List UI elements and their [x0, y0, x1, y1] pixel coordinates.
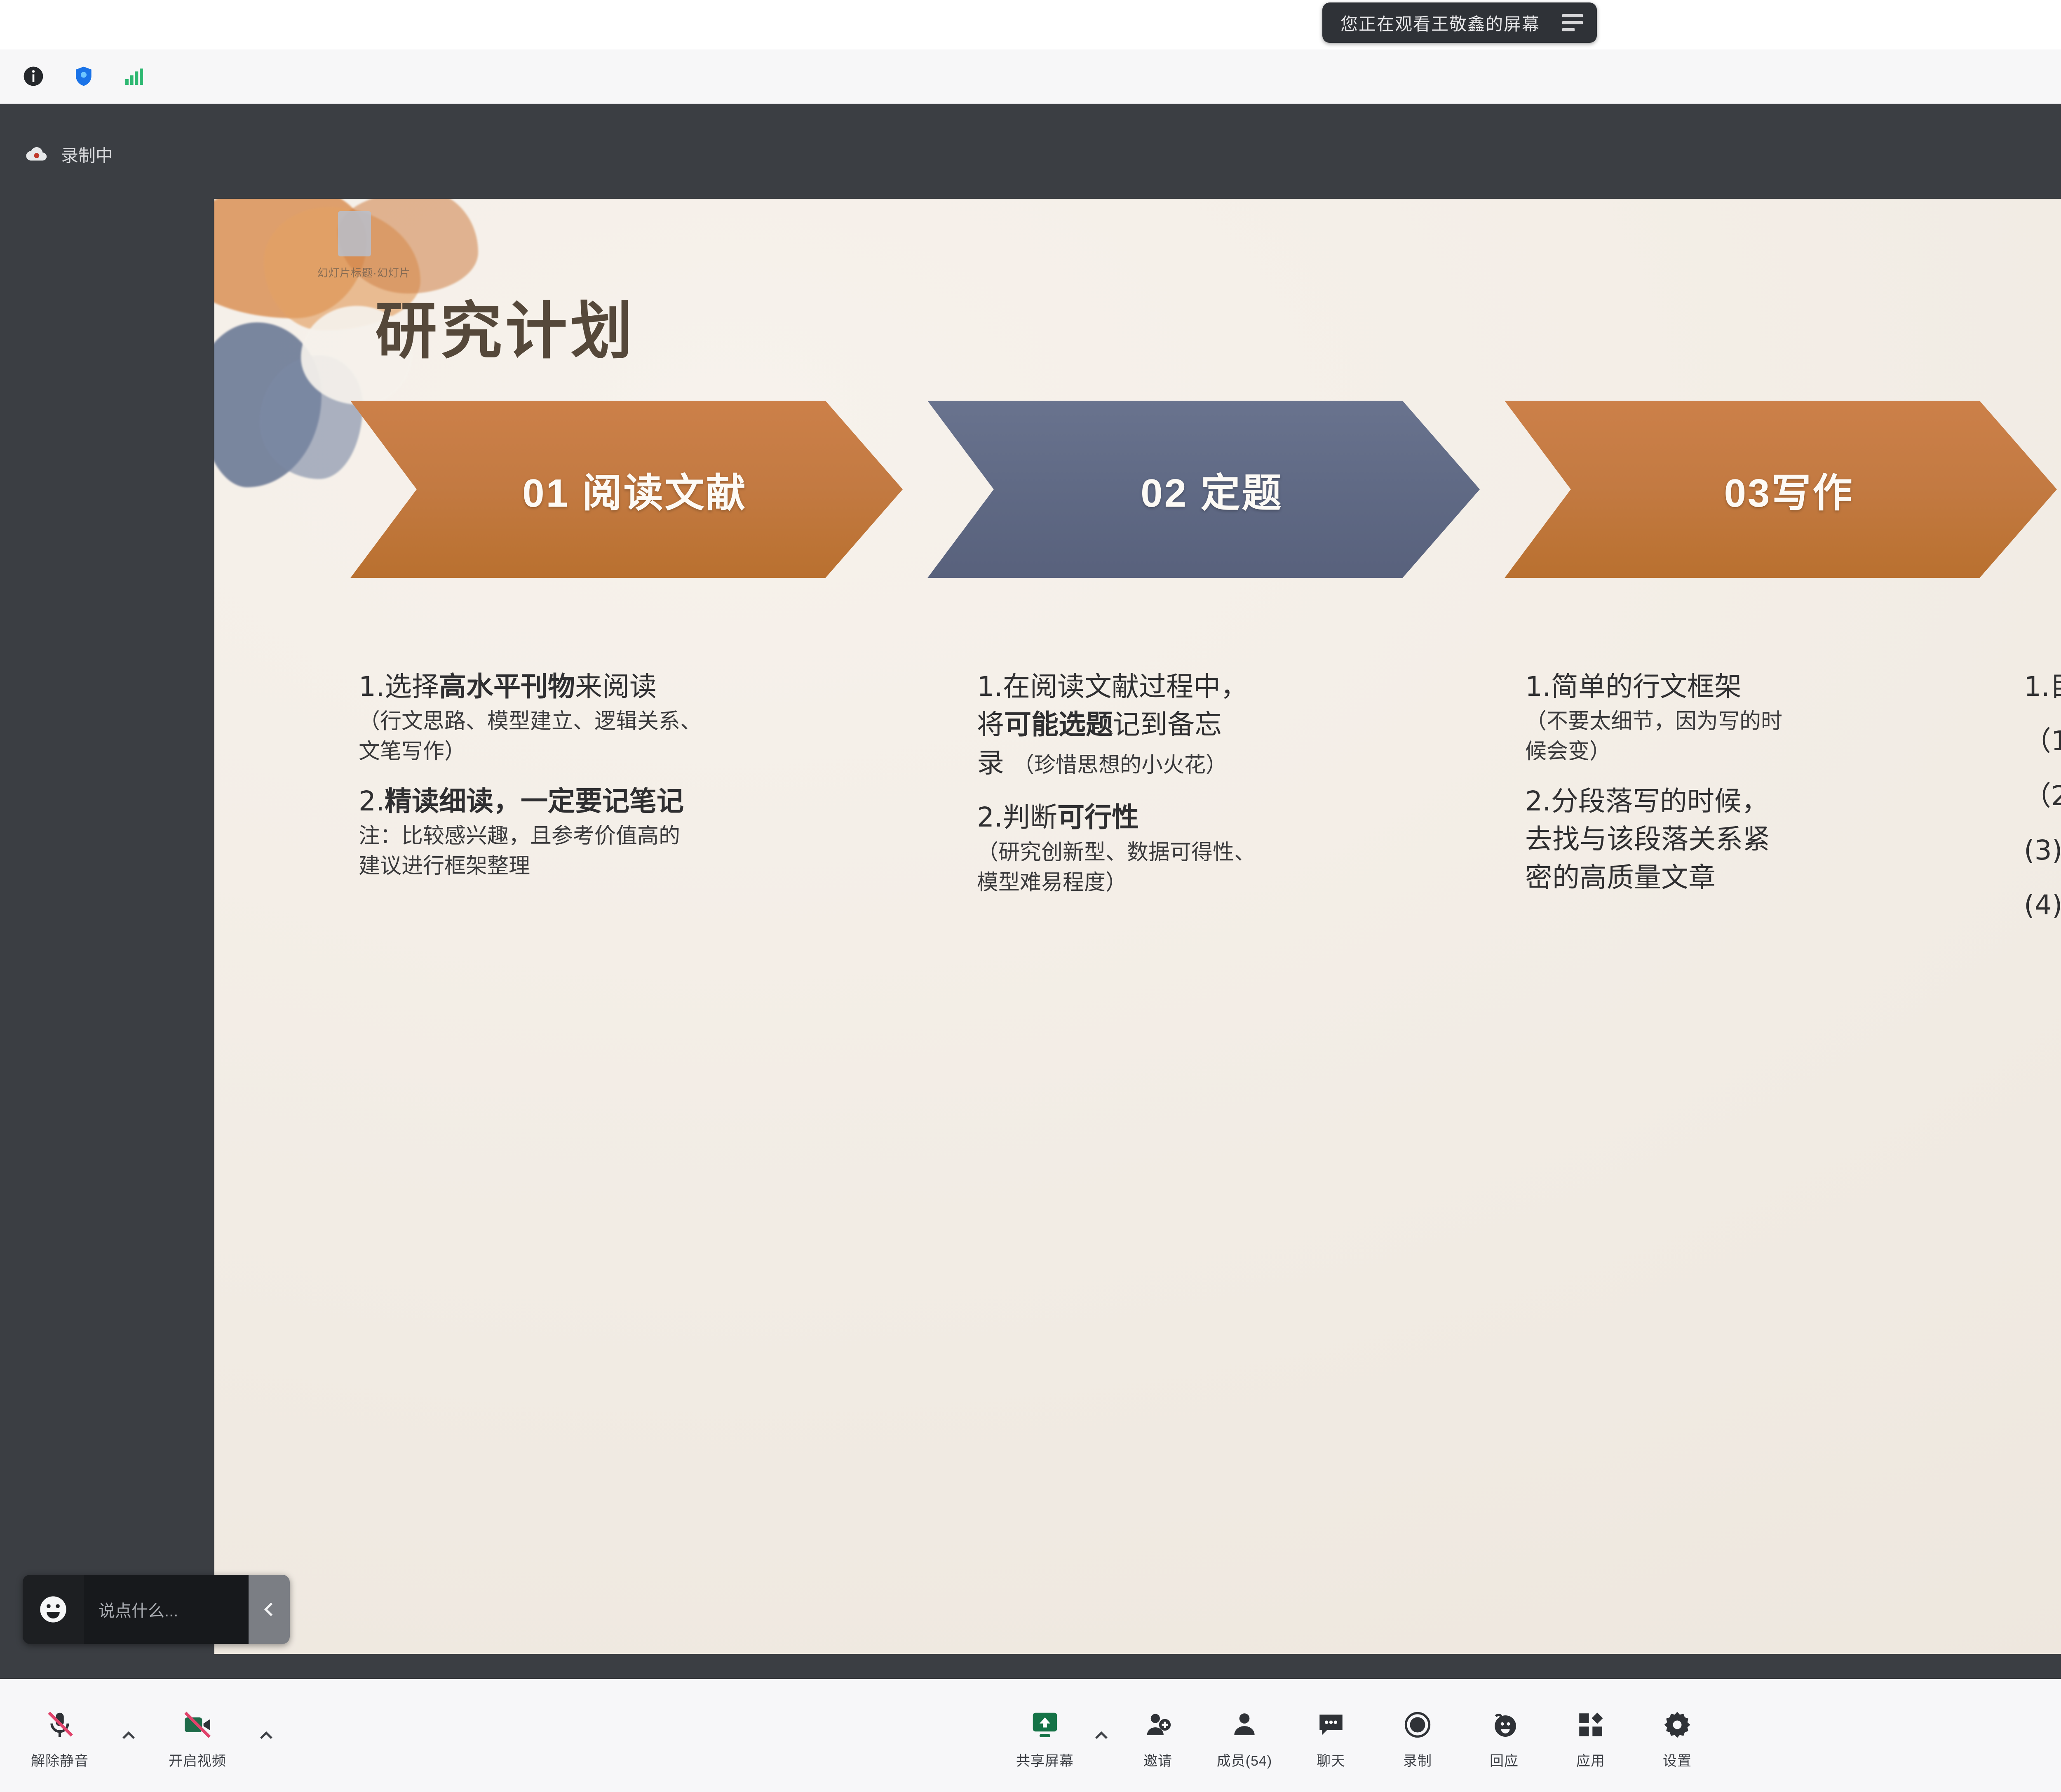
reactions-icon	[1489, 1706, 1519, 1744]
share-screen-button[interactable]: 共享屏幕	[1002, 1698, 1088, 1770]
record-label: 录制	[1403, 1750, 1432, 1770]
line-emphasis: 精读细读，一定要记笔记	[385, 785, 684, 817]
slide-column-reading: 1.选择高水平刊物来阅读 （行文思路、模型建立、逻辑关系、 文笔写作） 2.精读…	[359, 669, 989, 881]
slide-line: （行文思路、模型建立、逻辑关系、	[359, 707, 989, 737]
slide-column-submit: 1.目前常用的投稿渠道（4类） （1）知网（财经科学、财贸经济 （2）学报 (3…	[2024, 669, 2061, 925]
line-text: 录	[977, 747, 1004, 779]
process-step-2-label: 02 定题	[1124, 461, 1283, 518]
app-toolbar: 30:30 演讲者视图	[0, 49, 2061, 104]
process-step-2: 02 定题	[927, 401, 1480, 578]
slide-line: 1.简单的行文框架	[1525, 669, 2012, 705]
process-step-1: 01 阅读文献	[350, 401, 903, 578]
slide-line: （不要太细节，因为写的时	[1525, 707, 2012, 737]
line-text: 记到备忘	[1113, 709, 1222, 740]
invite-button[interactable]: 邀请	[1115, 1698, 1201, 1770]
participants-button[interactable]: 成员(54)	[1201, 1698, 1288, 1770]
slide-line: 模型难易程度）	[977, 868, 1517, 898]
slide-line: 注：比较感兴趣，且参考价值高的	[359, 821, 989, 851]
slide-column-writing: 1.简单的行文框架 （不要太细节，因为写的时 候会变） 2.分段落写的时候， 去…	[1525, 669, 2012, 897]
chat-button[interactable]: 聊天	[1288, 1698, 1374, 1770]
line-text: （珍惜思想的小火花）	[1013, 753, 1227, 777]
slide-line: 建议进行框架整理	[359, 851, 989, 881]
recording-label: 录制中	[61, 142, 113, 167]
video-options-caret[interactable]	[253, 1698, 279, 1773]
window-titlebar: 您正在观看王敬鑫的屏幕	[0, 0, 2061, 49]
cloud-recording-icon	[25, 143, 49, 167]
line-text: 来阅读	[575, 671, 657, 702]
controls-center-group: 共享屏幕 邀请 成员(54)	[1002, 1698, 1721, 1773]
unmute-button[interactable]: 解除静音	[16, 1698, 103, 1770]
controls-left-group: 解除静音 开启视频	[16, 1698, 279, 1773]
slide-line: 2.精读细读，一定要记笔记	[359, 783, 989, 820]
invite-label: 邀请	[1143, 1750, 1172, 1770]
toolbar-left-icons	[0, 62, 148, 91]
sharing-menu-icon[interactable]	[1562, 14, 1583, 31]
slide-line: (3)Journal X (南方经济、经济地理)	[2024, 832, 2061, 869]
mic-muted-icon	[44, 1706, 76, 1744]
process-step-1-label: 01 阅读文献	[506, 461, 747, 518]
slide-line: 密的高质量文章	[1525, 860, 2012, 896]
chat-input[interactable]: 说点什么...	[84, 1575, 249, 1644]
slide-line: 1.在阅读文献过程中，	[977, 669, 1517, 705]
start-video-button[interactable]: 开启视频	[154, 1698, 241, 1770]
record-button[interactable]: 录制	[1374, 1698, 1461, 1770]
slide-column-topic: 1.在阅读文献过程中， 将可能选题记到备忘 录 （珍惜思想的小火花） 2.判断可…	[977, 669, 1517, 897]
meeting-stage: 录制中 正在讲话: 王敬鑫 幻灯片标题·幻灯片 研究计划 01 阅读文献	[0, 104, 2061, 1678]
slide-line: 1.目前常用的投稿渠道（4类）	[2024, 669, 2061, 705]
start-video-label: 开启视频	[169, 1750, 226, 1770]
slide-line: 2.判断可行性	[977, 799, 1517, 836]
slide-title: 研究计划	[375, 281, 636, 371]
process-chevrons: 01 阅读文献 02 定题 03写作 04投稿	[350, 401, 2061, 578]
chevron-left-icon[interactable]	[249, 1575, 290, 1644]
apps-icon	[1575, 1706, 1606, 1744]
line-text: 2.判断	[977, 801, 1057, 833]
line-emphasis: 高水平刊物	[439, 671, 575, 702]
settings-label: 设置	[1663, 1750, 1692, 1770]
chat-label: 聊天	[1317, 1750, 1345, 1770]
line-text: 2.	[359, 785, 385, 817]
audio-options-caret[interactable]	[115, 1698, 142, 1773]
share-options-caret[interactable]	[1088, 1698, 1115, 1773]
apps-button[interactable]: 应用	[1547, 1698, 1634, 1770]
sharing-notice-pill[interactable]: 您正在观看王敬鑫的屏幕	[1322, 2, 1597, 43]
quick-chat-bar[interactable]: 说点什么...	[23, 1575, 290, 1644]
process-step-3: 03写作	[1505, 401, 2057, 578]
chat-icon	[1316, 1706, 1346, 1744]
apps-label: 应用	[1576, 1750, 1605, 1770]
participants-icon	[1229, 1706, 1260, 1744]
slide-line: 1.选择高水平刊物来阅读	[359, 669, 989, 705]
reactions-button[interactable]: 回应	[1461, 1698, 1547, 1770]
slide-deco-caption: 幻灯片标题·幻灯片	[317, 265, 411, 280]
shared-slide[interactable]: 幻灯片标题·幻灯片 研究计划 01 阅读文献 02 定题 03写作 04投稿 1…	[214, 199, 2061, 1654]
slide-thumb-icon	[338, 211, 371, 256]
video-off-icon	[181, 1706, 214, 1744]
signal-icon[interactable]	[120, 62, 148, 91]
line-text: 将	[977, 709, 1004, 740]
slide-line: （研究创新型、数据可得性、	[977, 838, 1517, 868]
info-icon[interactable]	[19, 62, 48, 91]
slide-line: 候会变）	[1525, 737, 2012, 767]
meeting-controls-bar: 解除静音 开启视频 共享屏幕	[0, 1678, 2061, 1792]
line-text: 1.选择	[359, 671, 439, 702]
participants-label: 成员(54)	[1217, 1750, 1272, 1770]
smiley-icon[interactable]	[23, 1575, 84, 1644]
gear-icon	[1662, 1706, 1692, 1744]
unmute-label: 解除静音	[31, 1750, 89, 1770]
invite-icon	[1143, 1706, 1173, 1744]
process-step-3-label: 03写作	[1708, 461, 1854, 518]
slide-line: (4)单独渠道	[2024, 887, 2061, 923]
line-emphasis: 可能选题	[1004, 709, 1113, 740]
slide-line: 录 （珍惜思想的小火花）	[977, 745, 1517, 781]
slide-line: （1）知网（财经科学、财贸经济	[2024, 723, 2061, 759]
settings-button[interactable]: 设置	[1634, 1698, 1721, 1770]
share-screen-label: 共享屏幕	[1016, 1750, 1074, 1770]
reactions-label: 回应	[1490, 1750, 1519, 1770]
shield-icon[interactable]	[69, 62, 98, 91]
record-icon	[1402, 1706, 1433, 1744]
slide-line: 2.分段落写的时候，	[1525, 783, 2012, 820]
sharing-notice-text: 您正在观看王敬鑫的屏幕	[1340, 10, 1540, 35]
screen-share-icon	[1029, 1706, 1061, 1744]
slide-line: 将可能选题记到备忘	[977, 707, 1517, 743]
slide-line: （2）学报	[2024, 778, 2061, 814]
slide-line: 文笔写作）	[359, 737, 989, 767]
recording-indicator: 录制中	[25, 142, 113, 167]
slide-line: 去找与该段落关系紧	[1525, 821, 2012, 857]
line-emphasis: 可行性	[1057, 801, 1139, 833]
